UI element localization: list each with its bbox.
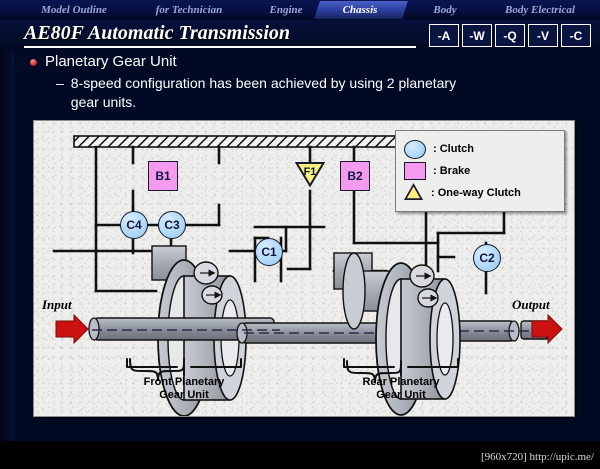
component-b2[interactable]: B2 bbox=[340, 161, 370, 191]
front-gear-unit-label: Front Planetary Gear Unit bbox=[124, 376, 244, 402]
output-label: Output bbox=[512, 297, 550, 313]
rear-gear-unit-line1: Rear Planetary bbox=[341, 376, 461, 389]
component-b2-label: B2 bbox=[347, 169, 362, 183]
tab-engine[interactable]: Engine bbox=[255, 0, 317, 20]
nav-button-a[interactable]: -A bbox=[429, 24, 459, 47]
input-label: Input bbox=[42, 297, 72, 313]
bullet-primary: Planetary Gear Unit bbox=[30, 52, 570, 72]
legend-box: : Clutch: Brake: One-way Clutch bbox=[395, 130, 565, 212]
legend-row: : Clutch bbox=[404, 138, 556, 160]
component-c4[interactable]: C4 bbox=[120, 211, 148, 239]
nav-button-v[interactable]: -V bbox=[528, 24, 558, 47]
component-c4-label: C4 bbox=[126, 218, 141, 232]
legend-label: : Clutch bbox=[433, 143, 474, 155]
page-title: AE80F Automatic Transmission bbox=[24, 22, 290, 45]
legend-label: : One-way Clutch bbox=[431, 187, 521, 199]
bullet-secondary: – 8-speed configuration has been achieve… bbox=[56, 74, 570, 112]
section-tabs[interactable]: Model Outlinefor TechnicianEngineChassis… bbox=[0, 0, 600, 20]
tab-body[interactable]: Body bbox=[420, 0, 470, 20]
nav-button-w[interactable]: -W bbox=[462, 24, 492, 47]
left-edge-stripe bbox=[0, 0, 14, 441]
rear-gear-unit-label: Rear Planetary Gear Unit bbox=[341, 376, 461, 402]
bullet-primary-text: Planetary Gear Unit bbox=[45, 52, 177, 72]
tab-chassis[interactable]: Chassis bbox=[325, 0, 395, 20]
component-b1-label: B1 bbox=[155, 169, 170, 183]
tab-for-technician[interactable]: for Technician bbox=[135, 0, 243, 20]
component-c2[interactable]: C2 bbox=[473, 244, 501, 272]
component-f1[interactable]: F1 bbox=[295, 161, 325, 187]
bullet-secondary-text: 8-speed configuration has been achieved … bbox=[71, 74, 471, 112]
bullet-dot-icon bbox=[30, 59, 37, 66]
nav-button-q[interactable]: -Q bbox=[495, 24, 525, 47]
title-underline bbox=[24, 46, 416, 48]
circle-icon bbox=[404, 140, 426, 159]
slide-screen: Model Outlinefor TechnicianEngineChassis… bbox=[0, 0, 600, 469]
nav-button-c[interactable]: -C bbox=[561, 24, 591, 47]
component-c3-label: C3 bbox=[164, 218, 179, 232]
tab-body-electrical[interactable]: Body Electrical bbox=[490, 0, 590, 20]
component-b1[interactable]: B1 bbox=[148, 161, 178, 191]
rear-gear-unit-line2: Gear Unit bbox=[341, 389, 461, 402]
square-icon bbox=[404, 162, 426, 180]
legend-row: : One-way Clutch bbox=[404, 182, 556, 204]
tab-model-outline[interactable]: Model Outline bbox=[18, 0, 130, 20]
triangle-icon bbox=[404, 183, 424, 203]
legend-row: : Brake bbox=[404, 160, 556, 182]
diagram-panel: B1 C4 C3 C1 F1 B2 C2 Input Output Front … bbox=[33, 120, 575, 417]
component-c3[interactable]: C3 bbox=[158, 211, 186, 239]
front-gear-unit-line1: Front Planetary bbox=[124, 376, 244, 389]
front-gear-unit-line2: Gear Unit bbox=[124, 389, 244, 402]
component-c2-label: C2 bbox=[479, 251, 494, 265]
footer-watermark: [960x720] http://upic.me/ bbox=[481, 451, 594, 463]
component-f1-label: F1 bbox=[304, 166, 317, 178]
component-c1[interactable]: C1 bbox=[255, 238, 283, 266]
component-c1-label: C1 bbox=[261, 245, 276, 259]
content-bullets: Planetary Gear Unit – 8-speed configurat… bbox=[30, 52, 570, 112]
bullet-dash-icon: – bbox=[56, 74, 64, 93]
legend-label: : Brake bbox=[433, 165, 470, 177]
nav-button-group[interactable]: -A-W-Q-V-C bbox=[429, 24, 591, 47]
